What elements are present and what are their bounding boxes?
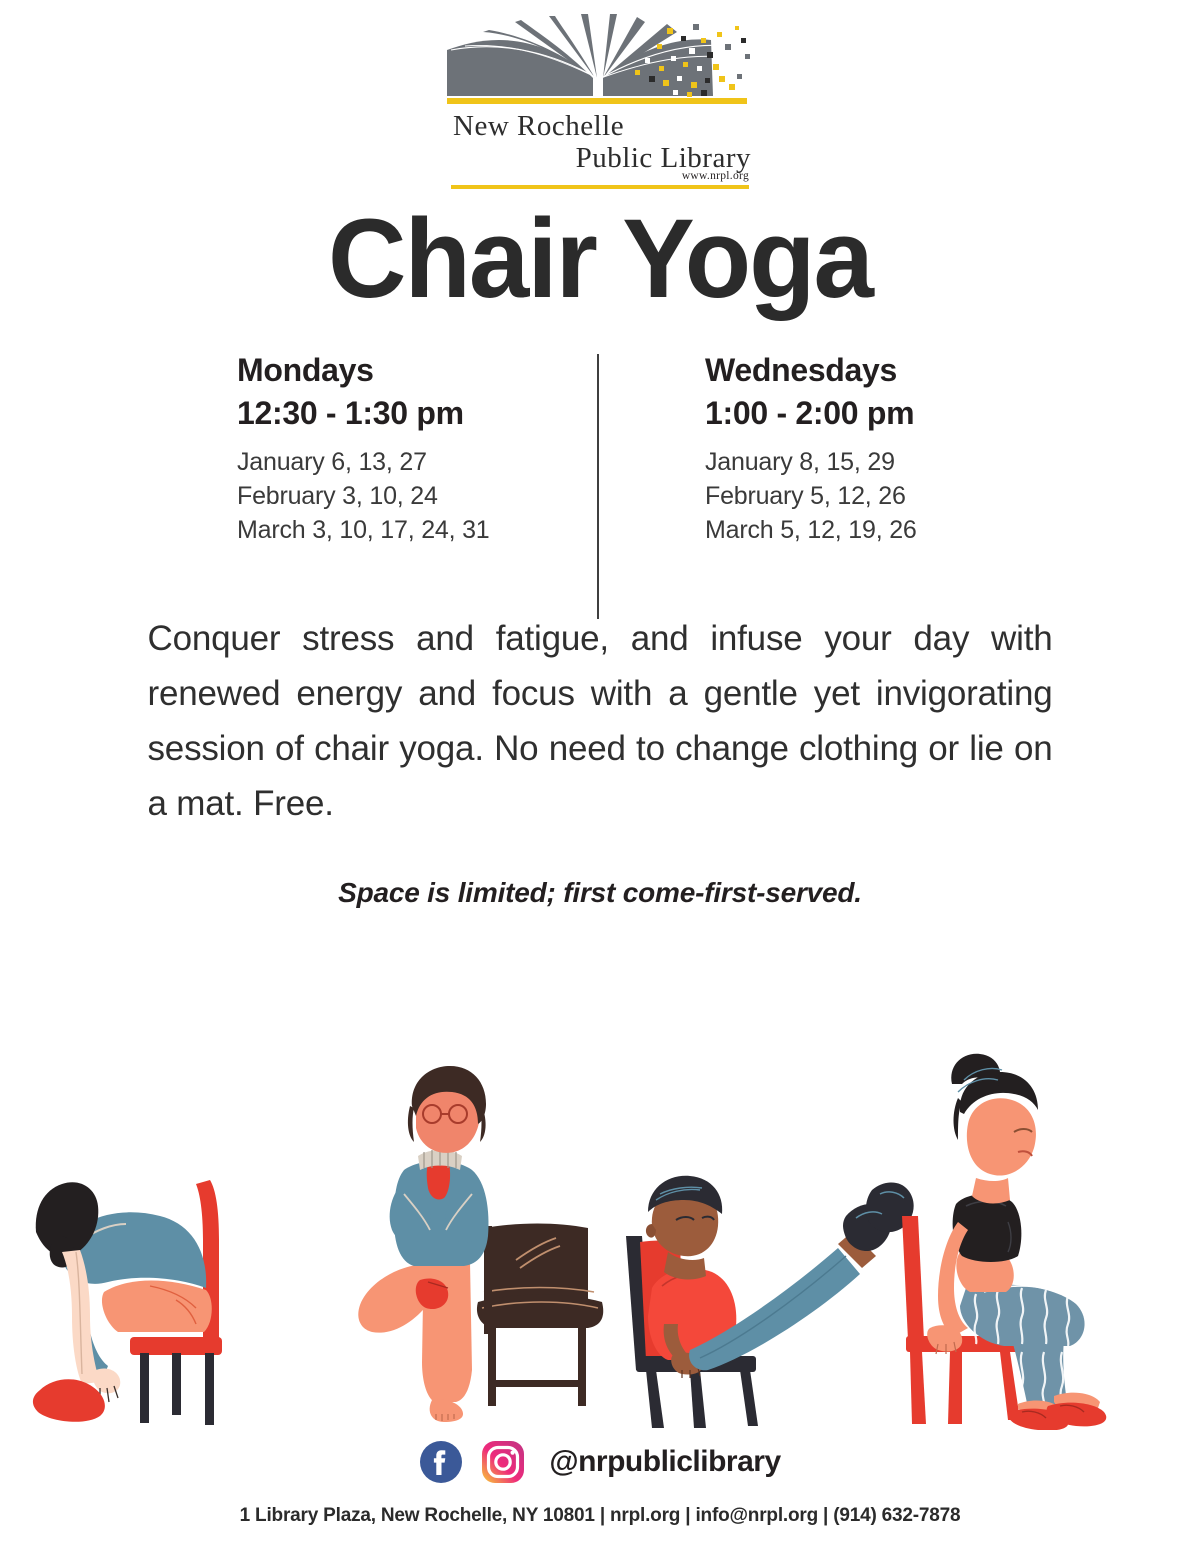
tree-pose-beside-chair-figure [358, 1066, 603, 1422]
schedule-section: Mondays 12:30 - 1:30 pm January 6, 13, 2… [0, 349, 1200, 547]
seated-backbend-figure [902, 1054, 1106, 1430]
description-text: Conquer stress and fatigue, and infuse y… [148, 611, 1053, 831]
logo-bottom-rule [451, 185, 749, 189]
schedule-date-line: January 8, 15, 29 [705, 445, 985, 479]
schedule-day-label: Mondays [237, 349, 600, 391]
schedule-time-label: 12:30 - 1:30 pm [237, 391, 600, 435]
social-handle: @nrpubliclibrary [549, 1445, 780, 1479]
library-logo: New Rochelle Public Library www.nrpl.org [0, 0, 1200, 189]
forward-fold-over-chair-figure [33, 1180, 222, 1425]
page-title: Chair Yoga [18, 203, 1182, 315]
seated-leg-lift-figure [626, 1176, 914, 1428]
schedule-day-label: Wednesdays [705, 349, 985, 391]
schedule-column-mondays: Mondays 12:30 - 1:30 pm January 6, 13, 2… [215, 349, 600, 547]
schedule-date-line: February 5, 12, 26 [705, 479, 985, 513]
schedule-dates: January 8, 15, 29 February 5, 12, 26 Mar… [705, 445, 985, 547]
footer-address: 1 Library Plaza, New Rochelle, NY 10801 … [0, 1505, 1200, 1527]
space-limited-note: Space is limited; first come-first-serve… [0, 877, 1200, 909]
illustration-row [0, 1040, 1200, 1430]
facebook-icon[interactable] [419, 1440, 463, 1484]
schedule-date-line: March 5, 12, 19, 26 [705, 513, 985, 547]
logo-name-line2: Public Library [445, 142, 755, 174]
open-book-fan-icon [445, 14, 755, 106]
schedule-date-line: January 6, 13, 27 [237, 445, 600, 479]
schedule-dates: January 6, 13, 27 February 3, 10, 24 Mar… [237, 445, 600, 547]
schedule-column-wednesdays: Wednesdays 1:00 - 2:00 pm January 8, 15,… [600, 349, 985, 547]
logo-name-line1: New Rochelle [445, 110, 755, 142]
social-row: @nrpubliclibrary [0, 1440, 1200, 1484]
schedule-time-label: 1:00 - 2:00 pm [705, 391, 985, 435]
schedule-date-line: March 3, 10, 17, 24, 31 [237, 513, 600, 547]
schedule-date-line: February 3, 10, 24 [237, 479, 600, 513]
schedule-divider [597, 354, 599, 619]
instagram-icon[interactable] [481, 1440, 525, 1484]
